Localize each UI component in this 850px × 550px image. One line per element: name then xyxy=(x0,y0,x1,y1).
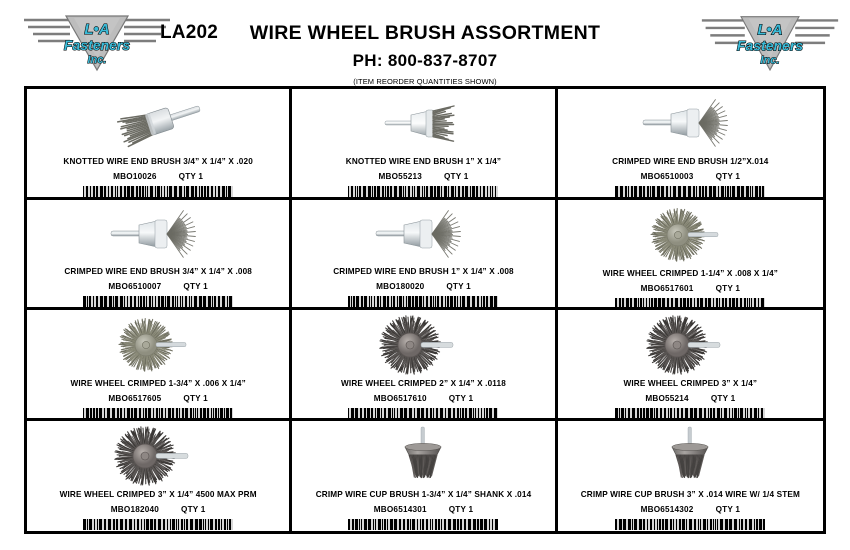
product-code: MBO6517605 xyxy=(108,394,161,403)
product-qty: QTY 1 xyxy=(183,282,208,291)
product-qty: QTY 1 xyxy=(716,172,741,181)
product-cell[interactable]: WIRE WHEEL CRIMPED 1-1/4” X .008 X 1/4”M… xyxy=(558,200,823,311)
product-description: KNOTTED WIRE END BRUSH 1” X 1/4” xyxy=(346,157,501,166)
product-barcode xyxy=(83,296,233,307)
svg-text:Fasteners: Fasteners xyxy=(737,37,803,53)
product-code-row: MBO6510003QTY 1 xyxy=(641,172,741,181)
product-barcode xyxy=(348,186,498,197)
crimped-end-brush-icon xyxy=(292,206,554,263)
sheet-header: L•A Fasteners Inc. LA202 WIRE WHEEL BRUS… xyxy=(0,0,850,86)
svg-text:Inc.: Inc. xyxy=(88,54,107,66)
product-code-row: MBO6517610QTY 1 xyxy=(374,394,474,403)
product-cell[interactable]: KNOTTED WIRE END BRUSH 3/4” X 1/4” X .02… xyxy=(27,89,292,200)
product-cell[interactable]: CRIMPED WIRE END BRUSH 3/4” X 1/4” X .00… xyxy=(27,200,292,311)
wire-wheel-dark-icon xyxy=(27,427,289,485)
product-grid: KNOTTED WIRE END BRUSH 3/4” X 1/4” X .02… xyxy=(24,86,826,534)
product-qty: QTY 1 xyxy=(711,394,736,403)
product-description: KNOTTED WIRE END BRUSH 3/4” X 1/4” X .02… xyxy=(63,157,253,166)
product-code: MBO10026 xyxy=(113,172,156,181)
product-cell[interactable]: KNOTTED WIRE END BRUSH 1” X 1/4”MBO55213… xyxy=(292,89,557,200)
product-code-row: MBO6510007QTY 1 xyxy=(108,282,208,291)
product-description: WIRE WHEEL CRIMPED 2” X 1/4” X .0118 xyxy=(341,379,506,388)
product-code: MBO55213 xyxy=(378,172,421,181)
product-code-row: MBO55213QTY 1 xyxy=(378,172,468,181)
product-cell[interactable]: WIRE WHEEL CRIMPED 1-3/4” X .006 X 1/4”M… xyxy=(27,310,292,421)
knotted-end-brush-icon xyxy=(27,95,289,152)
product-barcode xyxy=(615,408,765,417)
product-code-row: MBO6517601QTY 1 xyxy=(641,284,741,293)
product-assortment-sheet: L•A Fasteners Inc. LA202 WIRE WHEEL BRUS… xyxy=(0,0,850,550)
product-description: WIRE WHEEL CRIMPED 1-3/4” X .006 X 1/4” xyxy=(70,379,245,388)
product-description: CRIMPED WIRE END BRUSH 3/4” X 1/4” X .00… xyxy=(64,267,252,276)
product-barcode xyxy=(348,408,498,417)
wire-wheel-olive-icon xyxy=(27,316,289,374)
product-code-row: MBO182040QTY 1 xyxy=(111,505,206,514)
product-code-row: MBO6517605QTY 1 xyxy=(108,394,208,403)
product-barcode xyxy=(83,519,233,530)
product-cell[interactable]: CRIMPED WIRE END BRUSH 1/2”X.014MBO65100… xyxy=(558,89,823,200)
product-qty: QTY 1 xyxy=(179,172,204,181)
product-cell[interactable]: CRIMPED WIRE END BRUSH 1” X 1/4” X .008M… xyxy=(292,200,557,311)
product-code: MBO55214 xyxy=(645,394,688,403)
svg-text:L•A: L•A xyxy=(757,21,782,38)
product-code: MBO180020 xyxy=(376,282,424,291)
wire-wheel-dark-icon xyxy=(558,316,823,374)
product-barcode xyxy=(83,408,233,417)
wire-wheel-olive-icon xyxy=(558,206,823,264)
product-qty: QTY 1 xyxy=(716,505,741,514)
product-qty: QTY 1 xyxy=(446,282,471,291)
product-qty: QTY 1 xyxy=(183,394,208,403)
product-description: CRIMPED WIRE END BRUSH 1/2”X.014 xyxy=(612,157,768,166)
product-code-row: MBO55214QTY 1 xyxy=(645,394,735,403)
product-cell[interactable]: WIRE WHEEL CRIMPED 3” X 1/4” 4500 MAX PR… xyxy=(27,421,292,532)
product-code-row: MBO10026QTY 1 xyxy=(113,172,203,181)
product-code-row: MBO6514301QTY 1 xyxy=(374,505,474,514)
product-code: MBO182040 xyxy=(111,505,159,514)
reorder-note: (ITEM REORDER QUANTITIES SHOWN) xyxy=(0,77,850,86)
product-code: MBO6514301 xyxy=(374,505,427,514)
product-code-row: MBO180020QTY 1 xyxy=(376,282,471,291)
product-description: CRIMPED WIRE END BRUSH 1” X 1/4” X .008 xyxy=(333,267,514,276)
product-description: WIRE WHEEL CRIMPED 3” X 1/4” 4500 MAX PR… xyxy=(60,490,257,499)
sheet-sku-code: LA202 xyxy=(160,22,218,44)
cup-brush-icon xyxy=(292,427,554,485)
knotted-end-brush-small-icon xyxy=(292,95,554,152)
product-code: MBO6517601 xyxy=(641,284,694,293)
product-barcode xyxy=(615,519,765,530)
svg-text:Inc.: Inc. xyxy=(760,54,779,66)
product-qty: QTY 1 xyxy=(449,505,474,514)
product-code-row: MBO6514302QTY 1 xyxy=(641,505,741,514)
product-code: MBO6510003 xyxy=(641,172,694,181)
cup-brush-icon xyxy=(558,427,823,485)
product-cell[interactable]: WIRE WHEEL CRIMPED 3” X 1/4”MBO55214QTY … xyxy=(558,310,823,421)
product-qty: QTY 1 xyxy=(449,394,474,403)
product-qty: QTY 1 xyxy=(444,172,469,181)
product-code: MBO6517610 xyxy=(374,394,427,403)
product-qty: QTY 1 xyxy=(716,284,741,293)
crimped-end-brush-icon xyxy=(27,206,289,263)
product-code: MBO6514302 xyxy=(641,505,694,514)
svg-text:L•A: L•A xyxy=(84,21,109,38)
product-description: WIRE WHEEL CRIMPED 1-1/4” X .008 X 1/4” xyxy=(603,269,778,278)
product-description: CRIMP WIRE CUP BRUSH 1-3/4” X 1/4” SHANK… xyxy=(316,490,532,499)
product-cell[interactable]: CRIMP WIRE CUP BRUSH 3” X .014 WIRE W/ 1… xyxy=(558,421,823,532)
product-cell[interactable]: WIRE WHEEL CRIMPED 2” X 1/4” X .0118MBO6… xyxy=(292,310,557,421)
product-code: MBO6510007 xyxy=(108,282,161,291)
product-qty: QTY 1 xyxy=(181,505,206,514)
product-cell[interactable]: CRIMP WIRE CUP BRUSH 1-3/4” X 1/4” SHANK… xyxy=(292,421,557,532)
company-logo-right: L•A Fasteners Inc. xyxy=(700,6,840,76)
product-barcode xyxy=(348,519,498,530)
product-description: WIRE WHEEL CRIMPED 3” X 1/4” xyxy=(623,379,757,388)
company-logo-left: L•A Fasteners Inc. xyxy=(22,8,172,74)
product-barcode xyxy=(615,298,765,307)
wire-wheel-dark-icon xyxy=(292,316,554,374)
svg-text:Fasteners: Fasteners xyxy=(64,37,130,53)
product-barcode xyxy=(83,186,233,197)
crimped-end-brush-icon xyxy=(558,95,823,152)
product-barcode xyxy=(615,186,765,197)
product-barcode xyxy=(348,296,498,307)
product-description: CRIMP WIRE CUP BRUSH 3” X .014 WIRE W/ 1… xyxy=(581,490,800,499)
